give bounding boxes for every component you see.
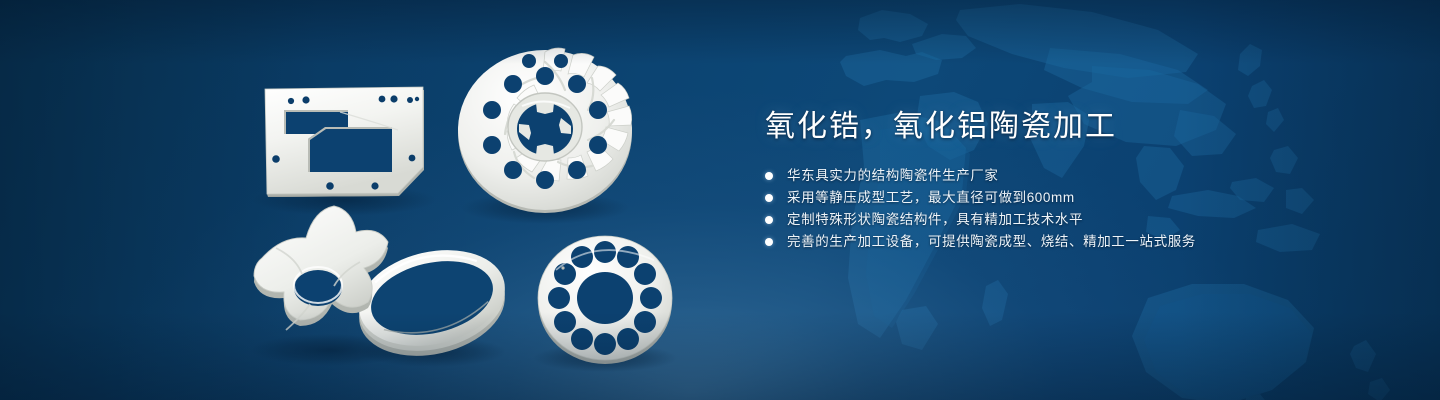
banner-copy: 氧化锆，氧化铝陶瓷加工 华东具实力的结构陶瓷件生产厂家 采用等静压成型工艺，最大… <box>765 108 1385 249</box>
list-item: 华东具实力的结构陶瓷件生产厂家 <box>765 168 1385 183</box>
list-item-label: 华东具实力的结构陶瓷件生产厂家 <box>787 168 999 183</box>
bullet-dot-icon <box>765 194 773 202</box>
list-item-label: 定制特殊形状陶瓷结构件，具有精加工技术水平 <box>787 212 1083 227</box>
list-item-label: 采用等静压成型工艺，最大直径可做到600mm <box>787 190 1075 205</box>
hero-banner: 氧化锆，氧化铝陶瓷加工 华东具实力的结构陶瓷件生产厂家 采用等静压成型工艺，最大… <box>0 0 1440 400</box>
bullet-dot-icon <box>765 216 773 224</box>
feature-list: 华东具实力的结构陶瓷件生产厂家 采用等静压成型工艺，最大直径可做到600mm 定… <box>765 168 1385 249</box>
list-item: 定制特殊形状陶瓷结构件，具有精加工技术水平 <box>765 212 1385 227</box>
list-item-label: 完善的生产加工设备，可提供陶瓷成型、烧结、精加工一站式服务 <box>787 234 1196 249</box>
list-item: 采用等静压成型工艺，最大直径可做到600mm <box>765 190 1385 205</box>
bullet-dot-icon <box>765 172 773 180</box>
list-item: 完善的生产加工设备，可提供陶瓷成型、烧结、精加工一站式服务 <box>765 234 1385 249</box>
bullet-dot-icon <box>765 238 773 246</box>
page-title: 氧化锆，氧化铝陶瓷加工 <box>765 108 1385 146</box>
